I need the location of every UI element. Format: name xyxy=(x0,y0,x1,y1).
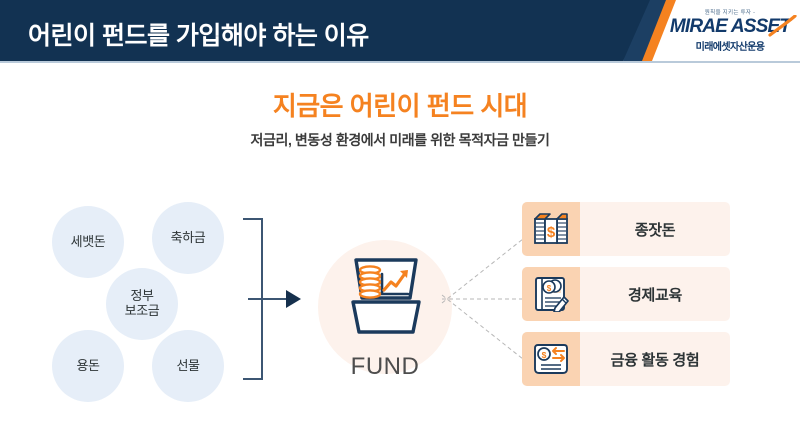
fund-box-icon xyxy=(348,252,424,336)
benefit-card-economic-education[interactable]: $ 경제교육 xyxy=(522,267,730,321)
svg-text:$: $ xyxy=(547,284,552,293)
logo-swoosh-icon xyxy=(768,15,798,37)
notebook-coins-pencil-icon: $ xyxy=(533,276,569,312)
flow-arrow-line xyxy=(248,298,288,300)
card-exchange-icon: $ xyxy=(532,343,570,375)
source-circle-line1: 정부 xyxy=(130,288,153,303)
header-divider xyxy=(0,61,800,63)
source-circle-seonmul: 선물 xyxy=(152,330,224,402)
source-circle-sebaetdon: 세뱃돈 xyxy=(52,206,124,278)
benefit-card-seed-money[interactable]: $ 종잣돈 xyxy=(522,202,730,256)
benefit-card-financial-experience[interactable]: $ 금융 활동 경험 xyxy=(522,332,730,386)
main-heading: 지금은 어린이 펀드 시대 xyxy=(0,86,800,123)
benefit-icon-wrapper: $ xyxy=(522,267,580,321)
source-circle-yongdon: 용돈 xyxy=(52,330,124,402)
svg-text:$: $ xyxy=(542,350,547,360)
logo-korean-name: 미래에셋자산운용 xyxy=(668,38,792,53)
page-title: 어린이 펀드를 가입해야 하는 이유 xyxy=(28,16,369,52)
flow-arrow-icon xyxy=(286,290,301,308)
benefit-icon-wrapper: $ xyxy=(522,202,580,256)
benefit-icon-wrapper: $ xyxy=(522,332,580,386)
mirae-asset-logo: 원칙을 지키는 투자 - MIRAE ASSET 미래에셋자산운용 xyxy=(668,8,792,53)
sub-heading: 저금리, 변동성 환경에서 미래를 위한 목적자금 만들기 xyxy=(0,130,800,150)
fund-label: FUND xyxy=(318,353,452,381)
source-circle-government-subsidy: 정부 보조금 xyxy=(106,268,178,340)
benefit-label: 종잣돈 xyxy=(580,219,730,240)
svg-text:$: $ xyxy=(547,224,556,241)
source-circle-chukhageum: 축하금 xyxy=(152,202,224,274)
connector-lines xyxy=(440,195,535,395)
source-circle-line2: 보조금 xyxy=(125,303,160,318)
benefit-label: 금융 활동 경험 xyxy=(580,349,730,370)
benefit-label: 경제교육 xyxy=(580,284,730,305)
money-stack-icon: $ xyxy=(533,212,569,246)
